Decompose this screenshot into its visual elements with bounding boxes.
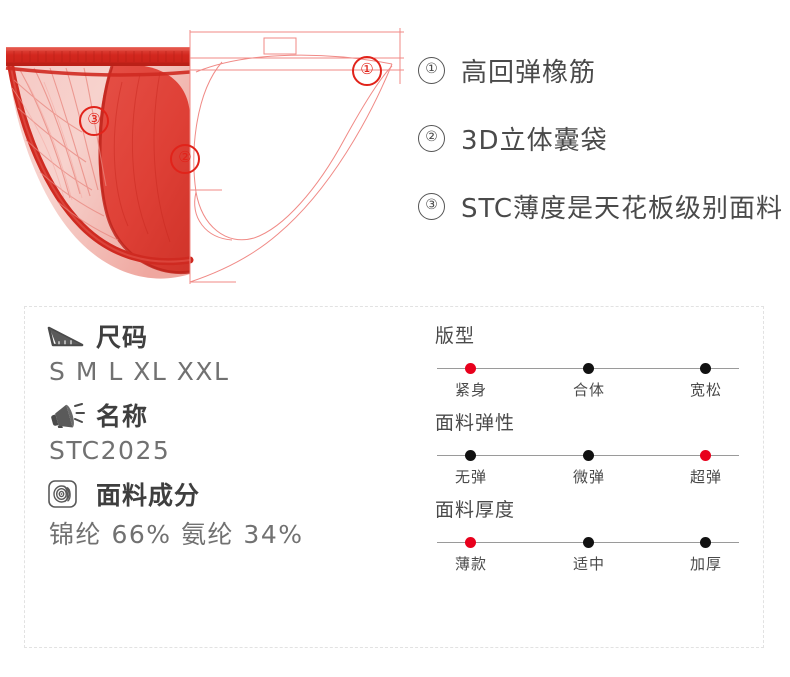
slider-caption-elasticity-0: 无弹: [455, 466, 487, 487]
slider-dot-fit-0[interactable]: [465, 363, 476, 374]
spec-name-title: 名称: [96, 397, 148, 433]
spec-size-block: 尺码 S M L XL XXL: [47, 319, 427, 386]
figure-marker-3: ③: [79, 106, 109, 136]
slider-dot-thickness-1[interactable]: [583, 537, 594, 548]
slider-group-thickness: 面料厚度 薄款 适中 加厚: [435, 495, 755, 565]
slider-caption-thickness-2: 加厚: [690, 553, 722, 574]
slider-dot-elasticity-0[interactable]: [465, 450, 476, 461]
slider-caption-fit-1: 合体: [573, 379, 605, 400]
spec-attributes-column: 尺码 S M L XL XXL: [47, 319, 427, 563]
slider-track-fit[interactable]: 紧身 合体 宽松: [435, 361, 755, 391]
megaphone-icon: [47, 400, 87, 430]
slider-track-thickness[interactable]: 薄款 适中 加厚: [435, 535, 755, 565]
spec-name-value: STC2025: [49, 436, 427, 465]
legend-label-2: 3D立体囊袋: [461, 120, 608, 157]
slider-dot-elasticity-1[interactable]: [583, 450, 594, 461]
product-photo-half: [6, 47, 190, 279]
feature-legend: ① 高回弹橡筋 ② 3D立体囊袋 ③ STC薄度是天花板级别面料: [418, 52, 790, 256]
legend-item-1: ① 高回弹橡筋: [418, 52, 790, 89]
legend-item-3: ③ STC薄度是天花板级别面料: [418, 188, 790, 225]
spec-size-value: S M L XL XXL: [49, 357, 427, 386]
slider-caption-fit-0: 紧身: [455, 379, 487, 400]
slider-caption-elasticity-2: 超弹: [690, 466, 722, 487]
spec-fabric-title: 面料成分: [96, 476, 200, 512]
slider-caption-thickness-1: 适中: [573, 553, 605, 574]
legend-number-2: ②: [418, 125, 445, 152]
legend-label-1: 高回弹橡筋: [461, 52, 596, 89]
spec-fabric-value: 锦纶 66% 氨纶 34%: [49, 515, 427, 551]
slider-dot-fit-1[interactable]: [583, 363, 594, 374]
slider-dot-fit-2[interactable]: [700, 363, 711, 374]
slider-track-elasticity[interactable]: 无弹 微弹 超弹: [435, 448, 755, 478]
slider-dot-thickness-2[interactable]: [700, 537, 711, 548]
slider-dot-elasticity-2[interactable]: [700, 450, 711, 461]
slider-caption-elasticity-1: 微弹: [573, 466, 605, 487]
slider-label-fit: 版型: [435, 321, 755, 348]
legend-item-2: ② 3D立体囊袋: [418, 120, 790, 157]
product-figure: ① ② ③: [0, 22, 410, 287]
ruler-triangle-icon: [47, 321, 87, 351]
spec-sliders-column: 版型 紧身 合体 宽松 面料弹性 无弹 微弹 超弹: [435, 321, 755, 582]
slider-dot-thickness-0[interactable]: [465, 537, 476, 548]
slider-caption-fit-2: 宽松: [690, 379, 722, 400]
yarn-roll-icon: [47, 479, 87, 509]
spec-panel: 尺码 S M L XL XXL: [24, 306, 764, 648]
spec-fabric-block: 面料成分 锦纶 66% 氨纶 34%: [47, 477, 427, 551]
legend-label-3: STC薄度是天花板级别面料: [461, 188, 783, 225]
slider-label-thickness: 面料厚度: [435, 495, 755, 522]
slider-caption-thickness-0: 薄款: [455, 553, 487, 574]
legend-number-1: ①: [418, 57, 445, 84]
spec-name-block: 名称 STC2025: [47, 398, 427, 465]
legend-number-3: ③: [418, 193, 445, 220]
product-illustration: [0, 22, 410, 287]
figure-marker-1: ①: [352, 56, 382, 86]
product-hero-section: ① ② ③ ① 高回弹橡筋 ② 3D立体囊袋 ③ STC薄度是天花板级别面料: [0, 0, 790, 290]
slider-label-elasticity: 面料弹性: [435, 408, 755, 435]
spec-size-title: 尺码: [96, 318, 148, 354]
figure-marker-2: ②: [170, 144, 200, 174]
slider-group-elasticity: 面料弹性 无弹 微弹 超弹: [435, 408, 755, 478]
slider-group-fit: 版型 紧身 合体 宽松: [435, 321, 755, 391]
